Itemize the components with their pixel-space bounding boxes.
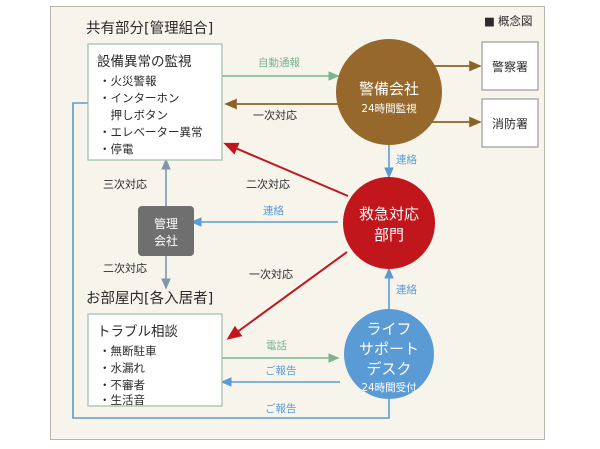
box-monitor-item-0: ・火災警報 xyxy=(99,74,157,88)
box-trouble-item-3: ・生活音 xyxy=(99,393,145,407)
node-lifesupport-sub: 24時間受付 xyxy=(361,381,416,394)
box-monitor-item-1: ・インターホン xyxy=(99,91,180,105)
section-title-room: お部屋内[各入居者] xyxy=(86,290,213,307)
box-trouble-title: トラブル相談 xyxy=(97,323,178,340)
node-lifesupport-line1: ライフ xyxy=(366,320,411,338)
node-security-title: 警備会社 xyxy=(359,80,419,98)
node-security-sub: 24時間監視 xyxy=(361,102,417,115)
box-manager-line2: 会社 xyxy=(154,233,178,248)
box-monitor-title: 設備異常の監視 xyxy=(97,53,192,70)
box-monitor-item-4: ・停電 xyxy=(99,142,134,156)
node-security-company: 警備会社 24時間監視 xyxy=(336,39,442,145)
node-emergency-line1: 救急対応 xyxy=(359,205,419,223)
box-fire: 消防署 xyxy=(482,99,538,147)
label-first-response-top: 一次対応 xyxy=(253,108,297,122)
legend-marker-icon: ■ xyxy=(484,14,495,28)
box-monitor: 設備異常の監視 ・火災警報 ・インターホン 押しボタン ・エレベーター異常 ・停… xyxy=(88,44,222,160)
node-life-support-desk: ライフ サポート デスク 24時間受付 xyxy=(344,309,434,399)
legend-label: 概念図 xyxy=(498,14,533,28)
label-phone: 電話 xyxy=(266,339,287,352)
label-first-response-low: 一次対応 xyxy=(249,267,293,281)
diagram-root: ■ 概念図 共有部分[管理組合] お部屋内[各入居者] 自動通報 一次対応 連絡… xyxy=(0,0,600,449)
node-emergency-line2: 部門 xyxy=(374,226,404,244)
box-manager-line1: 管理 xyxy=(154,216,178,231)
box-police: 警察署 xyxy=(482,42,538,90)
label-report-lower: ご報告 xyxy=(265,402,297,415)
arrow-first-response-low xyxy=(229,252,347,338)
box-monitor-item-2: 押しボタン xyxy=(99,108,168,122)
legend: ■ 概念図 xyxy=(484,14,533,28)
box-trouble-item-1: ・水漏れ xyxy=(99,361,145,375)
box-monitor-item-3: ・エレベーター異常 xyxy=(99,125,203,139)
label-third-response: 三次対応 xyxy=(103,177,147,191)
node-lifesupport-line3: デスク xyxy=(366,360,411,378)
label-contact-mid: 連絡 xyxy=(263,204,284,217)
box-police-label: 警察署 xyxy=(492,59,528,74)
box-trouble-item-0: ・無断駐車 xyxy=(99,344,157,358)
node-lifesupport-line2: サポート xyxy=(359,340,419,358)
box-trouble-item-2: ・不審者 xyxy=(99,378,145,392)
box-manager: 管理 会社 xyxy=(138,206,194,256)
section-title-common: 共有部分[管理組合] xyxy=(86,20,213,37)
concept-diagram-svg: ■ 概念図 共有部分[管理組合] お部屋内[各入居者] 自動通報 一次対応 連絡… xyxy=(0,0,600,449)
label-report-upper: ご報告 xyxy=(265,364,297,377)
label-auto-report: 自動通報 xyxy=(258,56,300,69)
label-second-response-mid: 二次対応 xyxy=(246,177,290,191)
box-trouble: トラブル相談 ・無断駐車 ・水漏れ ・不審者 ・生活音 xyxy=(88,314,222,407)
label-contact-bottom: 連絡 xyxy=(396,283,417,296)
label-second-response-low: 二次対応 xyxy=(103,261,147,275)
box-fire-label: 消防署 xyxy=(492,116,528,131)
label-contact-top: 連絡 xyxy=(396,153,417,166)
node-emergency-dept: 救急対応 部門 xyxy=(343,177,435,269)
